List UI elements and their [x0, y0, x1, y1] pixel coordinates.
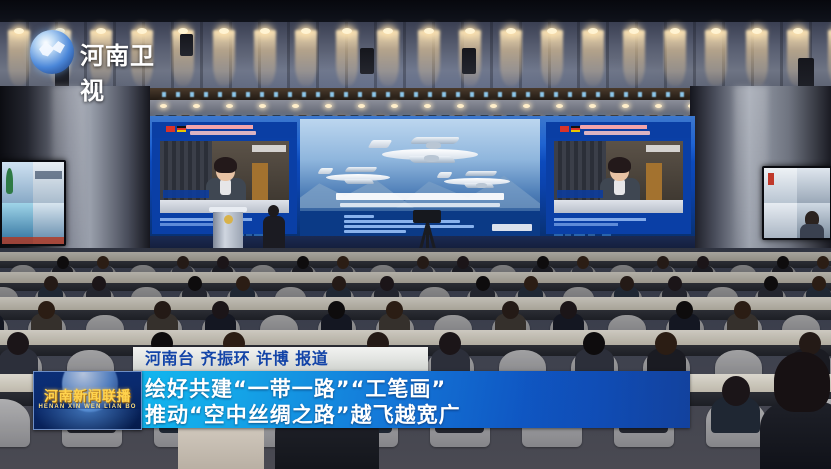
- wall-wash-light: [746, 30, 768, 86]
- airbus-logo: [492, 224, 532, 231]
- audience-member-head: [177, 256, 189, 269]
- audience-member: [147, 301, 178, 332]
- wall-wash-light: [705, 30, 727, 86]
- audience-member: [321, 301, 352, 332]
- soffit-downlight: [292, 104, 299, 108]
- wall-wash-light-source: [547, 28, 557, 34]
- station-bug-label: 河南卫视: [80, 36, 170, 106]
- led-left-video-feed: [160, 141, 289, 213]
- audience-member: [379, 301, 410, 332]
- audience-member-head: [457, 256, 469, 269]
- wall-wash-light: [418, 30, 440, 86]
- soffit-downlight: [589, 104, 596, 108]
- audience-member: [431, 332, 470, 370]
- foreground-hair: [774, 352, 830, 412]
- wall-monitor-left: [0, 160, 66, 246]
- audience-member: [0, 301, 4, 332]
- audience-member-head: [236, 276, 250, 291]
- soffit-downlight: [556, 104, 563, 108]
- podium-emblem: [224, 215, 233, 224]
- audience-member-head: [524, 276, 538, 291]
- wall-wash-light: [213, 30, 235, 86]
- ceiling-speaker: [180, 34, 193, 56]
- aircraft-left: [318, 165, 394, 187]
- foreground-body: [760, 402, 831, 469]
- slide-title-en: [340, 203, 500, 207]
- wall-wash-light-source: [465, 28, 475, 34]
- audience-member-head: [297, 256, 309, 269]
- wall-wash-light: [541, 30, 563, 86]
- soffit-downlight: [424, 104, 431, 108]
- wall-wash-light: [295, 30, 317, 86]
- program-title-cn: 河南新闻联播: [34, 386, 141, 406]
- audience-member: [0, 332, 38, 370]
- wall-wash-light: [254, 30, 276, 86]
- audience-member-head: [668, 276, 682, 291]
- globe-icon: [30, 30, 74, 74]
- wall-wash-light-source: [301, 28, 311, 34]
- soffit-downlight: [391, 104, 398, 108]
- soffit-downlight: [226, 104, 233, 108]
- beam-led-strip: [152, 92, 693, 97]
- led-left-panel-header: [152, 122, 297, 138]
- audience-member-head: [812, 276, 826, 291]
- broadcast-frame: 河南卫视 河南台 齐振环 许博 报道 绘好共建“一带一路”“工笔画” 推动“空中…: [0, 0, 831, 469]
- audience-member-head: [764, 276, 778, 291]
- wall-wash-light: [377, 30, 399, 86]
- wall-wash-light: [8, 30, 30, 86]
- wall-wash-light-source: [793, 28, 803, 34]
- soffit-downlight: [490, 104, 497, 108]
- ceiling-speaker: [462, 48, 476, 74]
- audience-member-head: [657, 256, 669, 269]
- audience-member-head: [417, 256, 429, 269]
- audience-desk-skirt: [0, 283, 831, 291]
- audience-member: [575, 332, 614, 370]
- reporter-credit-bar: 河南台 齐振环 许博 报道: [133, 347, 428, 371]
- wall-wash-light-source: [629, 28, 639, 34]
- audience-member-head: [97, 256, 109, 269]
- wall-wash-light-source: [260, 28, 270, 34]
- aircraft-main: [368, 135, 486, 169]
- wall-wash-light: [500, 30, 522, 86]
- reporter-credit-text: 河南台 齐振环 许博 报道: [145, 349, 328, 369]
- soffit-downlight: [457, 104, 464, 108]
- audience-member-head: [777, 256, 789, 269]
- wall-wash-light-source: [506, 28, 516, 34]
- audience-desk-row: [0, 297, 831, 310]
- headline-line-2: 推动“空中丝绸之路”越飞越宽广: [145, 399, 461, 428]
- audience-member-head: [332, 276, 346, 291]
- audience-desk-row: [0, 272, 831, 283]
- program-title-en: HENAN XIN WEN LIAN BO: [34, 404, 141, 410]
- wall-wash-light-source: [219, 28, 229, 34]
- wall-wash-light-source: [588, 28, 598, 34]
- audience-member-head: [537, 256, 549, 269]
- wall-wash-light: [664, 30, 686, 86]
- wall-wash-light-source: [383, 28, 393, 34]
- audience-member-head: [476, 276, 490, 291]
- headline-bar: 绘好共建“一带一路”“工笔画” 推动“空中丝绸之路”越飞越宽广: [133, 371, 690, 428]
- soffit-downlight: [622, 104, 629, 108]
- ceiling-speaker: [360, 48, 374, 74]
- audience-desk-skirt: [0, 310, 831, 320]
- audience-member: [727, 301, 758, 332]
- foreground-audience-member: [760, 352, 831, 469]
- audience-desk-row: [0, 330, 831, 345]
- audience-member-head: [92, 276, 106, 291]
- audience-member-head: [577, 256, 589, 269]
- wall-wash-light: [582, 30, 604, 86]
- audience-member-head: [337, 256, 349, 269]
- camera-body-icon: [413, 210, 441, 223]
- program-logo-plaque: 河南新闻联播 HENAN XIN WEN LIAN BO: [33, 371, 142, 430]
- wall-wash-light-source: [342, 28, 352, 34]
- soffit-downlight: [193, 104, 200, 108]
- audience-member: [647, 332, 686, 370]
- podium-top: [209, 207, 247, 212]
- led-right-video-feed: [554, 141, 683, 213]
- wall-wash-light-source: [670, 28, 680, 34]
- wall-monitor-right: [762, 166, 831, 240]
- slide-title-cn: [336, 193, 504, 200]
- soffit-downlight: [655, 104, 662, 108]
- wall-wash-light-source: [14, 28, 24, 34]
- wall-wash-light-source: [424, 28, 434, 34]
- station-bug: 河南卫视: [30, 30, 170, 74]
- stage-speaker-person: [263, 205, 285, 250]
- audience-member-head: [188, 276, 202, 291]
- audience-member: [31, 301, 62, 332]
- soffit-downlight: [325, 104, 332, 108]
- aircraft-right: [436, 169, 516, 191]
- plaque-glow: [34, 409, 141, 430]
- audience-member-head: [697, 256, 709, 269]
- led-right-panel: [546, 122, 691, 234]
- soffit-downlight: [358, 104, 365, 108]
- wall-wash-light-source: [711, 28, 721, 34]
- audience-member-head: [620, 276, 634, 291]
- audience-member-head: [44, 276, 58, 291]
- audience-member-head: [57, 256, 69, 269]
- soffit-downlight: [259, 104, 266, 108]
- audience-member-head: [217, 256, 229, 269]
- soffit-downlight: [523, 104, 530, 108]
- wall-wash-light: [336, 30, 358, 86]
- audience-member-head: [380, 276, 394, 291]
- audience-member: [553, 301, 584, 332]
- audience-member: [205, 301, 236, 332]
- wall-wash-light-source: [752, 28, 762, 34]
- audience-member: [711, 376, 760, 424]
- audience-member: [495, 301, 526, 332]
- audience-member: [669, 301, 700, 332]
- audience-member-head: [817, 256, 829, 269]
- wall-wash-light: [623, 30, 645, 86]
- led-right-panel-header: [546, 122, 691, 138]
